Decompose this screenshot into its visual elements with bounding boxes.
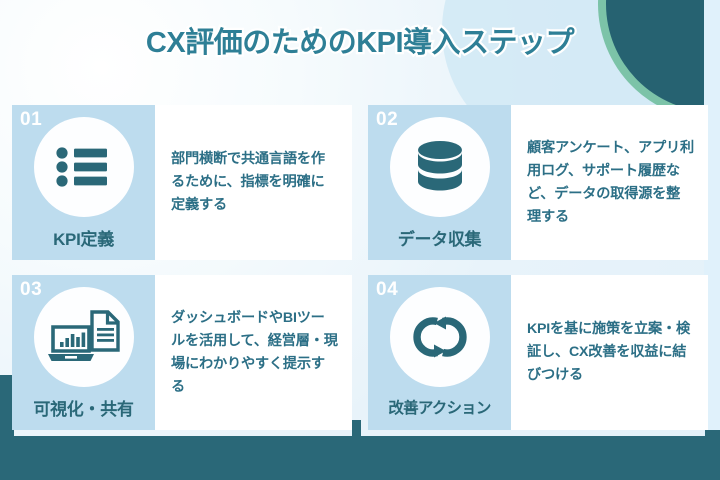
infographic-canvas: CX評価のためのKPI導入ステップ 01 xyxy=(0,0,720,480)
step-number-03: 03 xyxy=(20,279,42,302)
bullet-list-icon xyxy=(34,117,134,217)
step-card-03: 03 xyxy=(12,275,352,430)
page-title-text: CX評価のためのKPI導入ステップ xyxy=(146,19,574,61)
step-label-03: 可視化・共有 xyxy=(12,387,155,430)
step-card-04-body: KPIを基に施策を立案・検証し、CX改善を収益に結びつける xyxy=(511,275,708,430)
step-label-04: 改善アクション xyxy=(368,387,511,430)
step-card-01: 01 KPI定義 部門横断で xyxy=(12,105,352,260)
database-icon xyxy=(390,117,490,217)
step-card-04: 04 xyxy=(368,275,708,430)
step-label-02: データ収集 xyxy=(368,217,511,260)
step-card-01-body: 部門横断で共通言語を作るために、指標を明確に定義する xyxy=(155,105,352,260)
step-card-02-panel: 02 データ収集 xyxy=(368,105,511,260)
laptop-chart-document-icon xyxy=(34,287,134,387)
step-text-02: 顧客アンケート、アプリ利用ログ、サポート履歴など、データの取得源を整理する xyxy=(527,137,694,229)
step-card-03-panel: 03 xyxy=(12,275,155,430)
step-text-03: ダッシュボードやBIツールを活用して、経営層・現場にわかりやすく提示する xyxy=(171,307,338,399)
step-number-01: 01 xyxy=(20,109,42,132)
step-card-02-body: 顧客アンケート、アプリ利用ログ、サポート履歴など、データの取得源を整理する xyxy=(511,105,708,260)
refresh-cycle-icon xyxy=(390,287,490,387)
step-number-02: 02 xyxy=(376,109,398,132)
step-card-03-body: ダッシュボードやBIツールを活用して、経営層・現場にわかりやすく提示する xyxy=(155,275,352,430)
page-title: CX評価のためのKPI導入ステップ xyxy=(0,19,720,61)
step-card-04-panel: 04 xyxy=(368,275,511,430)
step-label-01: KPI定義 xyxy=(12,217,155,260)
step-number-04: 04 xyxy=(376,279,398,302)
decorative-right-block xyxy=(705,430,720,480)
step-card-02: 02 データ収集 顧客アンケート、アプリ利用ログ、サポート履歴など、データの取得… xyxy=(368,105,708,260)
step-text-01: 部門横断で共通言語を作るために、指標を明確に定義する xyxy=(171,148,338,217)
step-text-04: KPIを基に施策を立案・検証し、CX改善を収益に結びつける xyxy=(527,318,694,387)
step-card-01-panel: 01 KPI定義 xyxy=(12,105,155,260)
steps-grid: 01 KPI定義 部門横断で xyxy=(12,105,708,430)
